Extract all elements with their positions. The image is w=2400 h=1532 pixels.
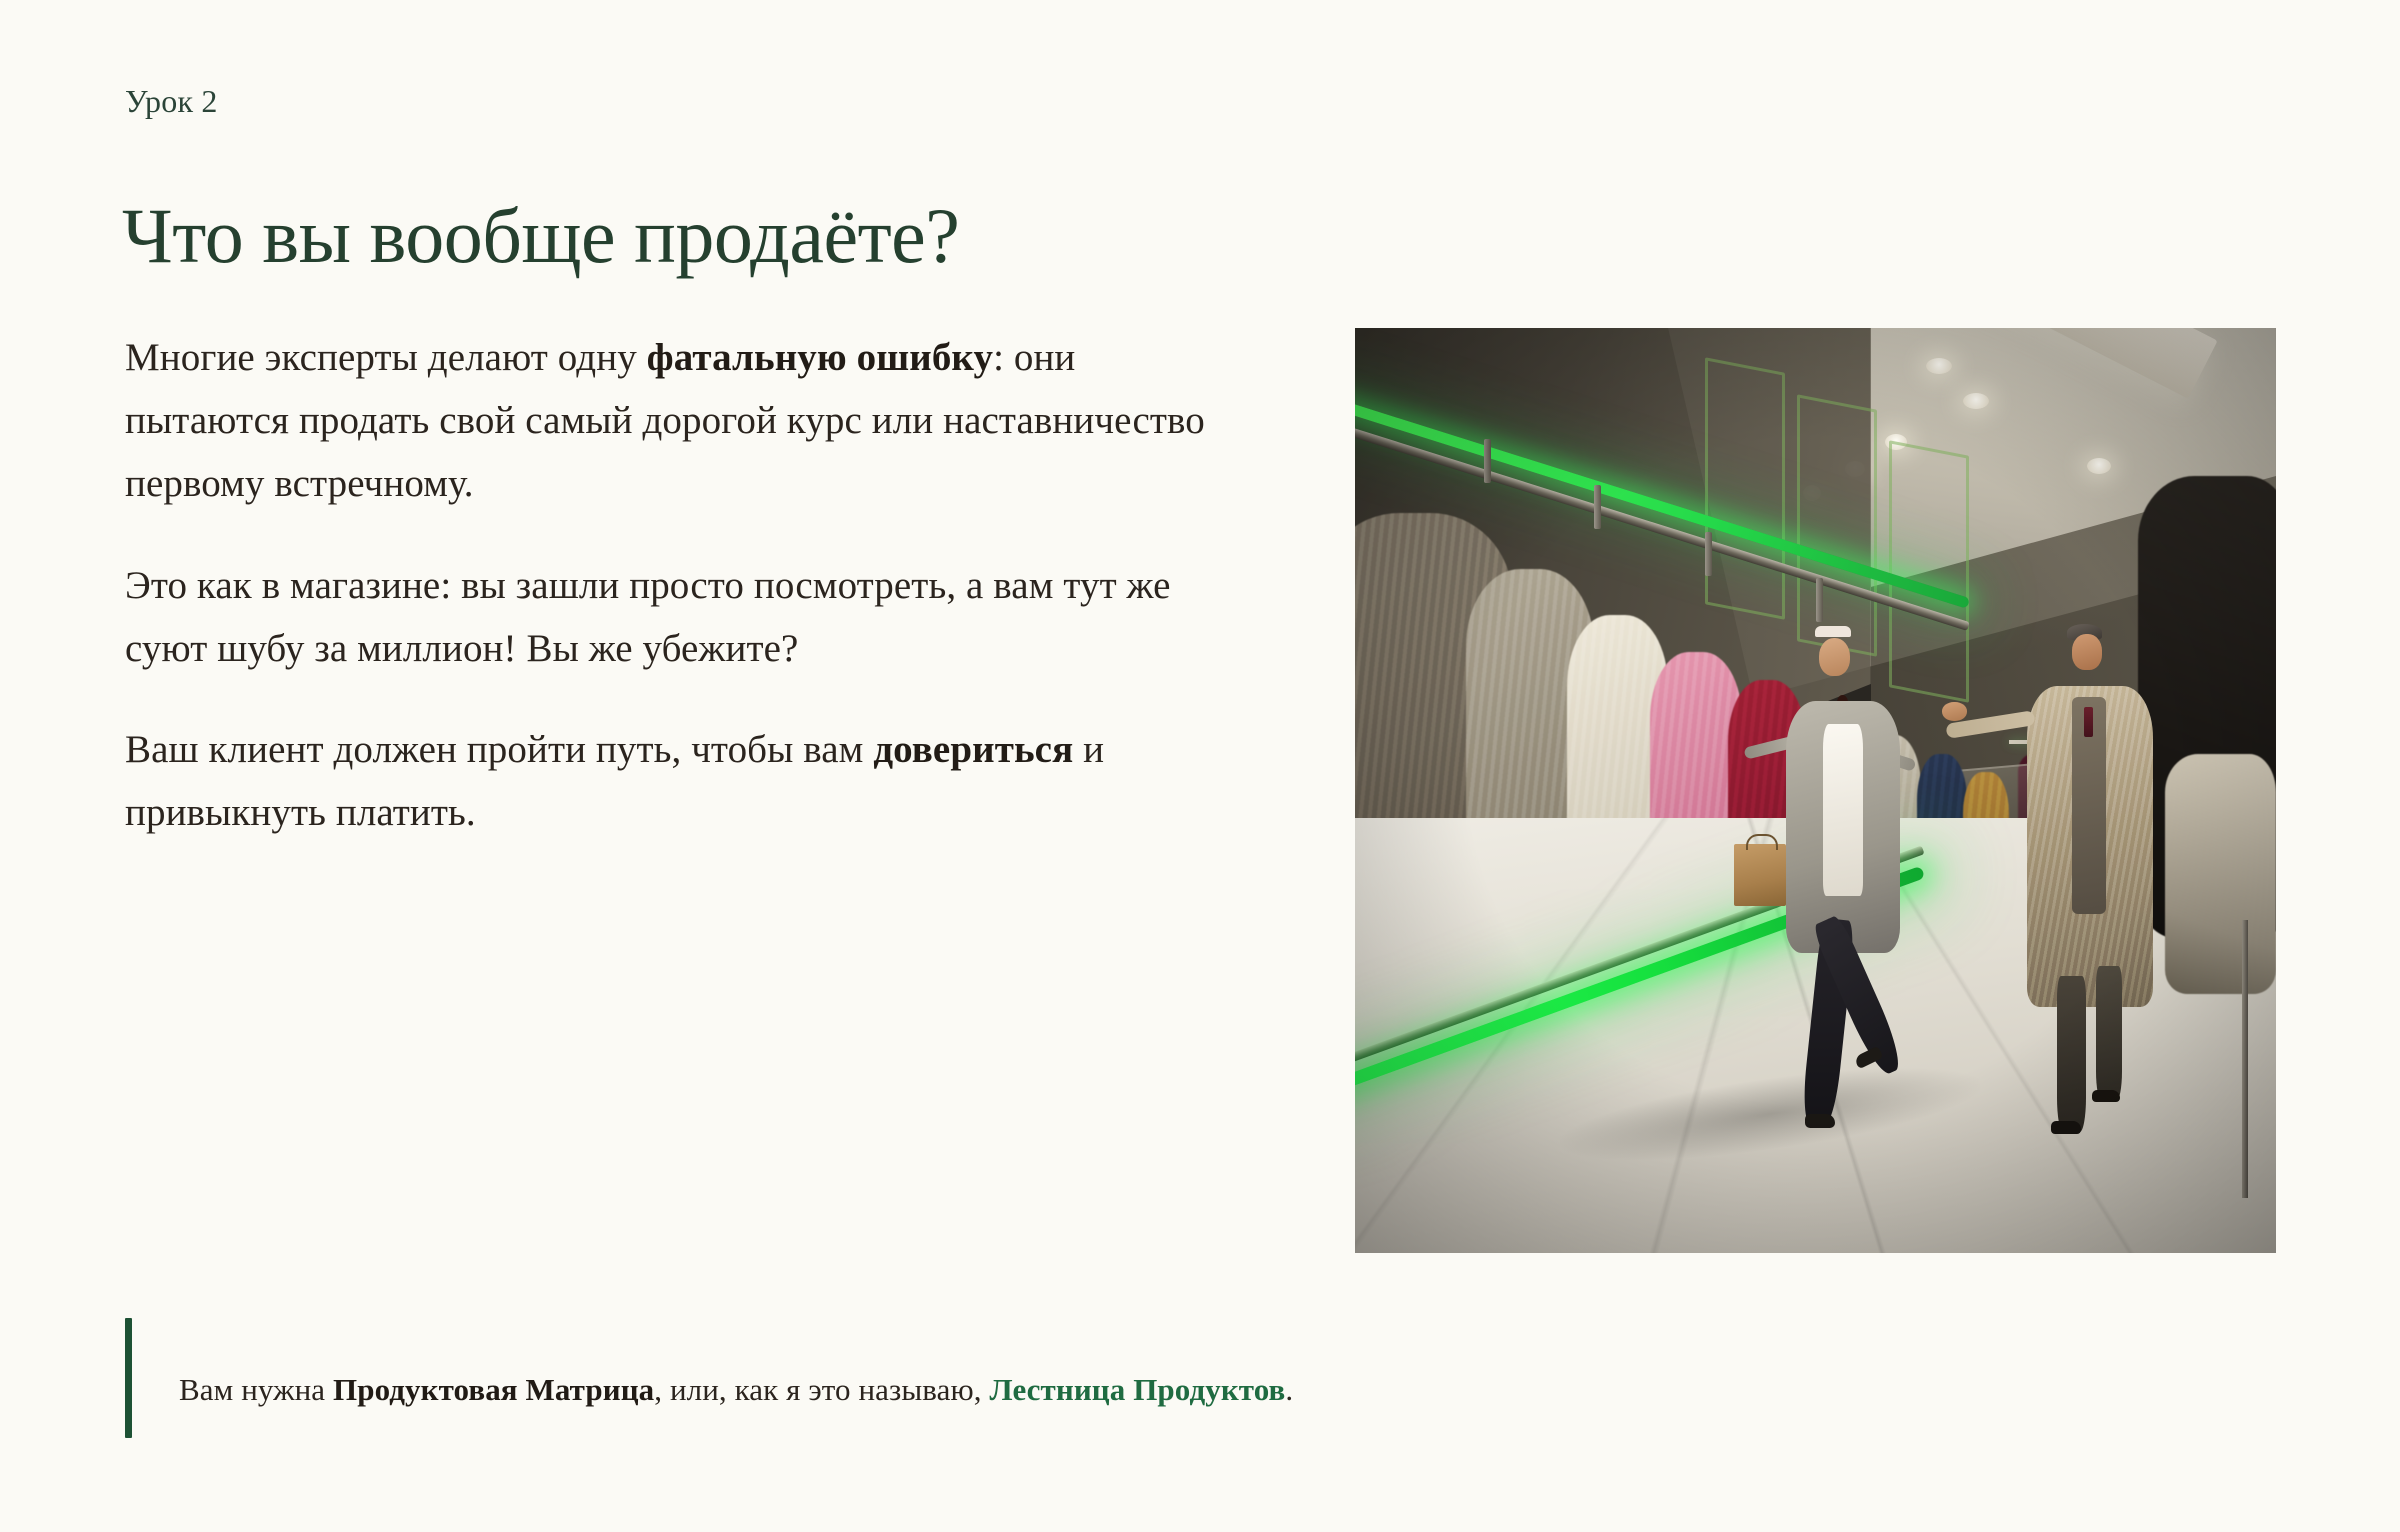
spotlight-icon bbox=[1963, 393, 1989, 409]
callout-part-2: , или, как я это называю, bbox=[654, 1372, 989, 1407]
rail-post bbox=[1484, 439, 1491, 483]
lesson-eyebrow: Урок 2 bbox=[125, 82, 218, 120]
body-paragraph-2: Это как в магазине: вы зашли просто посм… bbox=[125, 554, 1245, 680]
callout-part-3: . bbox=[1285, 1372, 1293, 1407]
page-title: Что вы вообще продаёте? bbox=[122, 192, 959, 279]
rail-post bbox=[1594, 485, 1601, 529]
callout-block: Вам нужна Продуктовая Матрица, или, как … bbox=[125, 1318, 2185, 1414]
salesman-shoe bbox=[2092, 1090, 2120, 1102]
salesman-shoe bbox=[2051, 1121, 2081, 1134]
salesman-leg bbox=[2057, 976, 2085, 1131]
paragraph-1-part-1: Многие эксперты делают одну bbox=[125, 336, 647, 379]
customer-headband bbox=[1815, 626, 1851, 637]
salesman-hand bbox=[1942, 702, 1967, 721]
paragraph-3-part-1: Ваш клиент должен пройти путь, чтобы вам bbox=[125, 728, 873, 771]
salesman-tie bbox=[2084, 707, 2093, 737]
paragraph-3-bold-1: довериться bbox=[873, 728, 1073, 771]
spotlight-icon bbox=[1926, 358, 1952, 374]
salesman-figure bbox=[1990, 624, 2193, 1142]
spotlight-icon bbox=[2087, 458, 2111, 474]
callout-text: Вам нужна Продуктовая Матрица, или, как … bbox=[179, 1318, 2185, 1414]
rail-post bbox=[1705, 532, 1712, 576]
illustration-photo bbox=[1355, 328, 2276, 1253]
customer-white-shirt bbox=[1823, 724, 1864, 896]
callout-bold-1: Продуктовая Матрица bbox=[333, 1372, 654, 1407]
customer-shoe bbox=[1805, 1114, 1835, 1128]
photo-scene-fur-boutique bbox=[1355, 328, 2276, 1253]
salesman-leg bbox=[2096, 966, 2122, 1101]
foreground-rack-post bbox=[2242, 920, 2248, 1198]
body-paragraph-1: Многие эксперты делают одну фатальную ош… bbox=[125, 326, 1245, 516]
slide-root: Урок 2 Что вы вообще продаёте? Многие эк… bbox=[0, 0, 2400, 1532]
customer-head bbox=[1819, 638, 1850, 676]
running-customer-figure bbox=[1742, 615, 1945, 1189]
shopping-bag bbox=[1734, 844, 1786, 906]
body-paragraph-3: Ваш клиент должен пройти путь, чтобы вам… bbox=[125, 718, 1245, 844]
wall-panel-moulding bbox=[1705, 357, 1785, 619]
callout-accent-term: Лестница Продуктов bbox=[989, 1372, 1285, 1407]
body-column: Многие эксперты делают одну фатальную ош… bbox=[125, 326, 1245, 844]
callout-part-1: Вам нужна bbox=[179, 1372, 333, 1407]
paragraph-1-bold-1: фатальную ошибку bbox=[647, 336, 993, 379]
callout-accent-bar bbox=[125, 1318, 132, 1438]
salesman-head bbox=[2072, 634, 2102, 670]
